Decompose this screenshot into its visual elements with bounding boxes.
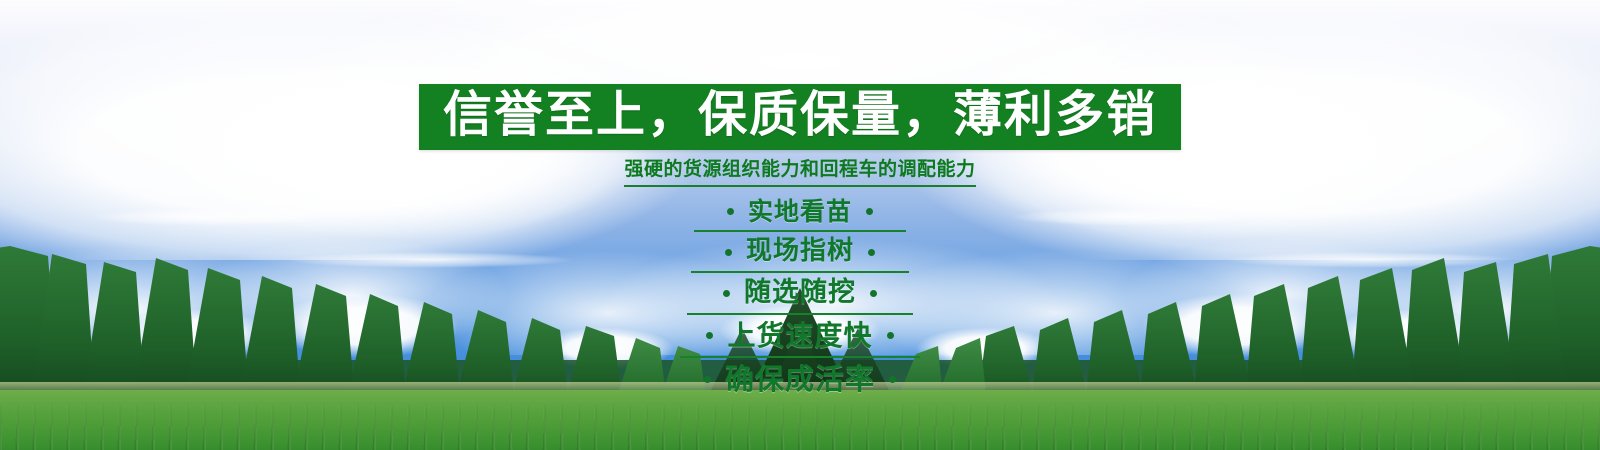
bullet-dot-icon [866,208,873,215]
bullet-dot-icon [704,376,711,383]
bullet-dot-icon [868,249,875,256]
bullet-dot-icon [870,290,877,297]
bullet-dot-icon [889,376,896,383]
subtitle-text: 强硬的货源组织能力和回程车的调配能力 [624,158,975,187]
headline-text: 信誉至上，保质保量，薄利多销 [443,89,1157,141]
feature-label: 实地看苗 [748,197,852,228]
bullet-dot-icon [723,290,730,297]
feature-list: 实地看苗 现场指树 随选随挖 上货速度快 确保成活率 [676,197,924,407]
feature-item: 实地看苗 [694,197,906,233]
feature-label: 随选随挖 [744,277,856,310]
feature-item: 现场指树 [691,236,909,273]
feature-item: 上货速度快 [680,319,920,358]
promotional-banner: 信誉至上，保质保量，薄利多销 强硬的货源组织能力和回程车的调配能力 实地看苗 现… [0,0,1600,450]
bullet-dot-icon [887,332,894,339]
bullet-dot-icon [706,332,713,339]
headline-bar: 信誉至上，保质保量，薄利多销 [419,84,1181,150]
bullet-dot-icon [725,249,732,256]
feature-label: 现场指树 [746,236,854,268]
bullet-dot-icon [727,208,734,215]
feature-item: 随选随挖 [687,277,913,315]
feature-item: 确保成活率 [676,362,924,402]
feature-label: 上货速度快 [727,319,872,353]
feature-label: 确保成活率 [725,362,875,397]
banner-content: 信誉至上，保质保量，薄利多销 强硬的货源组织能力和回程车的调配能力 实地看苗 现… [0,0,1600,450]
